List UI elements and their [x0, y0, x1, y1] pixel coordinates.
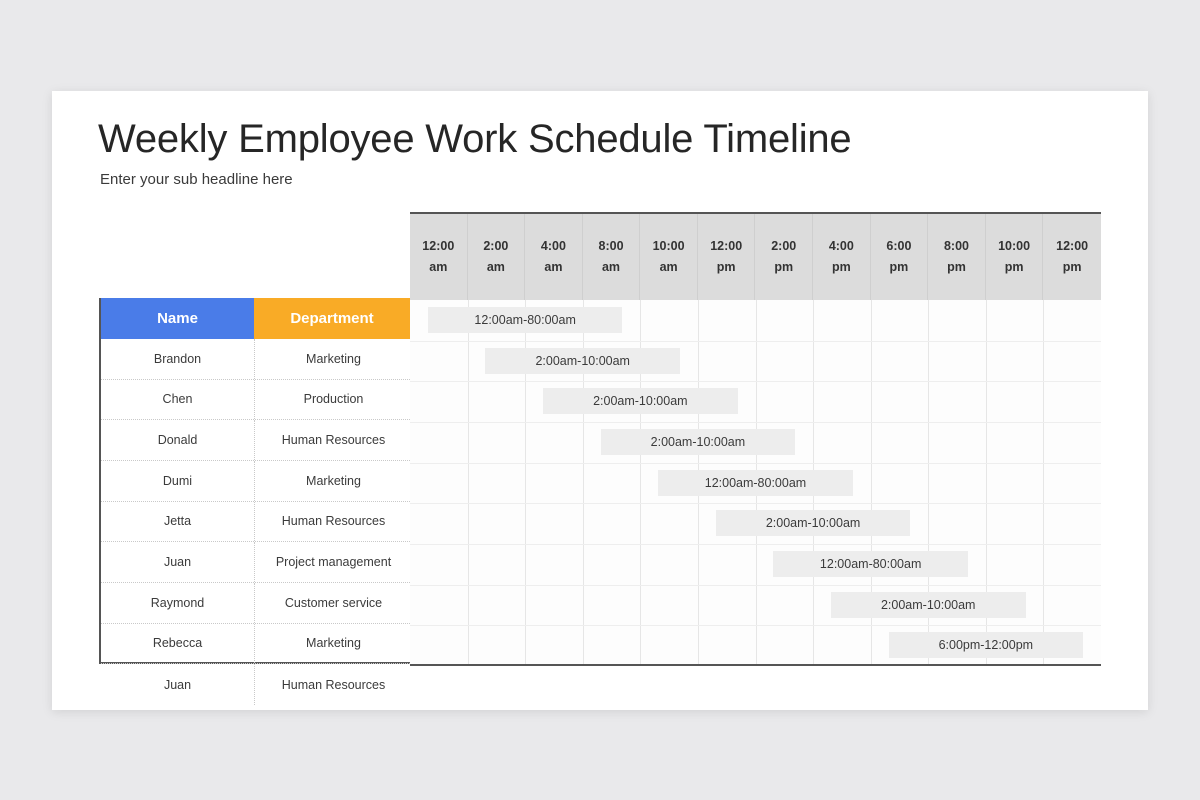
time-axis-hour: 2:00	[771, 236, 796, 257]
timeline-body: 12:00am-80:00am2:00am-10:00am2:00am-10:0…	[410, 300, 1101, 666]
table-row[interactable]: JuanProject management	[101, 542, 412, 583]
time-axis-hour: 6:00	[886, 236, 911, 257]
employee-label-block: Name Department BrandonMarketingChenProd…	[99, 298, 410, 664]
cell-department: Project management	[255, 542, 412, 582]
time-axis-meridiem: pm	[832, 257, 851, 278]
time-axis-cell: 10:00pm	[986, 214, 1044, 300]
cell-department: Marketing	[255, 624, 412, 664]
time-axis-header: 12:00am2:00am4:00am8:00am10:00am12:00pm2…	[410, 214, 1101, 300]
time-axis-cell: 10:00am	[640, 214, 698, 300]
cell-employee-name: Rebecca	[101, 624, 255, 664]
cell-department: Marketing	[255, 461, 412, 501]
time-axis-hour: 8:00	[599, 236, 624, 257]
table-row[interactable]: ChenProduction	[101, 380, 412, 421]
time-axis-hour: 12:00	[710, 236, 742, 257]
time-axis-meridiem: pm	[774, 257, 793, 278]
cell-employee-name: Juan	[101, 664, 255, 705]
time-axis-hour: 4:00	[541, 236, 566, 257]
cell-employee-name: Donald	[101, 420, 255, 460]
time-axis-cell: 4:00am	[525, 214, 583, 300]
timeline-row: 12:00am-80:00am	[410, 300, 1101, 341]
time-axis-meridiem: am	[487, 257, 505, 278]
cell-department: Production	[255, 380, 412, 420]
time-axis-hour: 4:00	[829, 236, 854, 257]
time-axis-hour: 12:00	[1056, 236, 1088, 257]
schedule-bar[interactable]: 2:00am-10:00am	[716, 510, 911, 536]
schedule-bar[interactable]: 2:00am-10:00am	[601, 429, 796, 455]
page-title: Weekly Employee Work Schedule Timeline	[98, 117, 851, 162]
table-row[interactable]: RaymondCustomer service	[101, 583, 412, 624]
time-axis-cell: 12:00pm	[1043, 214, 1101, 300]
timeline-row: 6:00pm-12:00pm	[410, 625, 1101, 666]
time-axis-cell: 8:00am	[583, 214, 641, 300]
column-header-name[interactable]: Name	[101, 298, 254, 339]
schedule-bar[interactable]: 6:00pm-12:00pm	[889, 632, 1084, 658]
time-axis-hour: 8:00	[944, 236, 969, 257]
cell-employee-name: Chen	[101, 380, 255, 420]
time-axis-cell: 4:00pm	[813, 214, 871, 300]
table-row[interactable]: JuanHuman Resources	[101, 664, 412, 705]
slide-canvas: Weekly Employee Work Schedule Timeline E…	[52, 91, 1148, 710]
time-axis-meridiem: pm	[1063, 257, 1082, 278]
schedule-bar[interactable]: 12:00am-80:00am	[428, 307, 623, 333]
schedule-bar[interactable]: 2:00am-10:00am	[543, 388, 738, 414]
time-axis-hour: 10:00	[998, 236, 1030, 257]
timeline-grid: 12:00am2:00am4:00am8:00am10:00am12:00pm2…	[410, 212, 1101, 664]
schedule-bar[interactable]: 12:00am-80:00am	[773, 551, 968, 577]
cell-employee-name: Jetta	[101, 502, 255, 542]
time-axis-cell: 8:00pm	[928, 214, 986, 300]
schedule-bar[interactable]: 2:00am-10:00am	[485, 348, 680, 374]
time-axis-cell: 2:00pm	[755, 214, 813, 300]
time-axis-meridiem: pm	[1005, 257, 1024, 278]
time-axis-cell: 2:00am	[468, 214, 526, 300]
time-axis-meridiem: am	[660, 257, 678, 278]
time-axis-meridiem: pm	[947, 257, 966, 278]
table-row[interactable]: DumiMarketing	[101, 461, 412, 502]
schedule-bar[interactable]: 12:00am-80:00am	[658, 470, 853, 496]
timeline-row: 12:00am-80:00am	[410, 544, 1101, 585]
timeline-row: 2:00am-10:00am	[410, 381, 1101, 422]
table-row[interactable]: DonaldHuman Resources	[101, 420, 412, 461]
time-axis-cell: 6:00pm	[871, 214, 929, 300]
time-axis-meridiem: pm	[890, 257, 909, 278]
cell-department: Marketing	[255, 339, 412, 379]
time-axis-meridiem: am	[429, 257, 447, 278]
cell-department: Human Resources	[255, 420, 412, 460]
time-axis-cell: 12:00am	[410, 214, 468, 300]
table-row[interactable]: RebeccaMarketing	[101, 624, 412, 665]
time-axis-hour: 12:00	[422, 236, 454, 257]
timeline-row: 2:00am-10:00am	[410, 503, 1101, 544]
table-row[interactable]: JettaHuman Resources	[101, 502, 412, 543]
cell-employee-name: Juan	[101, 542, 255, 582]
cell-department: Human Resources	[255, 664, 412, 705]
table-row[interactable]: BrandonMarketing	[101, 339, 412, 380]
time-axis-meridiem: am	[544, 257, 562, 278]
timeline-row: 2:00am-10:00am	[410, 422, 1101, 463]
timeline-row: 2:00am-10:00am	[410, 585, 1101, 626]
schedule-bar[interactable]: 2:00am-10:00am	[831, 592, 1026, 618]
time-axis-meridiem: pm	[717, 257, 736, 278]
cell-department: Human Resources	[255, 502, 412, 542]
time-axis-cell: 12:00pm	[698, 214, 756, 300]
cell-employee-name: Dumi	[101, 461, 255, 501]
page-subtitle: Enter your sub headline here	[100, 171, 293, 188]
time-axis-meridiem: am	[602, 257, 620, 278]
timeline-row: 2:00am-10:00am	[410, 341, 1101, 382]
cell-employee-name: Brandon	[101, 339, 255, 379]
time-axis-hour: 10:00	[653, 236, 685, 257]
table-header-row: Name Department	[101, 298, 410, 339]
cell-department: Customer service	[255, 583, 412, 623]
timeline-row: 12:00am-80:00am	[410, 463, 1101, 504]
column-header-department[interactable]: Department	[254, 298, 410, 339]
schedule-table: Name Department BrandonMarketingChenProd…	[99, 212, 1101, 664]
cell-employee-name: Raymond	[101, 583, 255, 623]
time-axis-hour: 2:00	[483, 236, 508, 257]
